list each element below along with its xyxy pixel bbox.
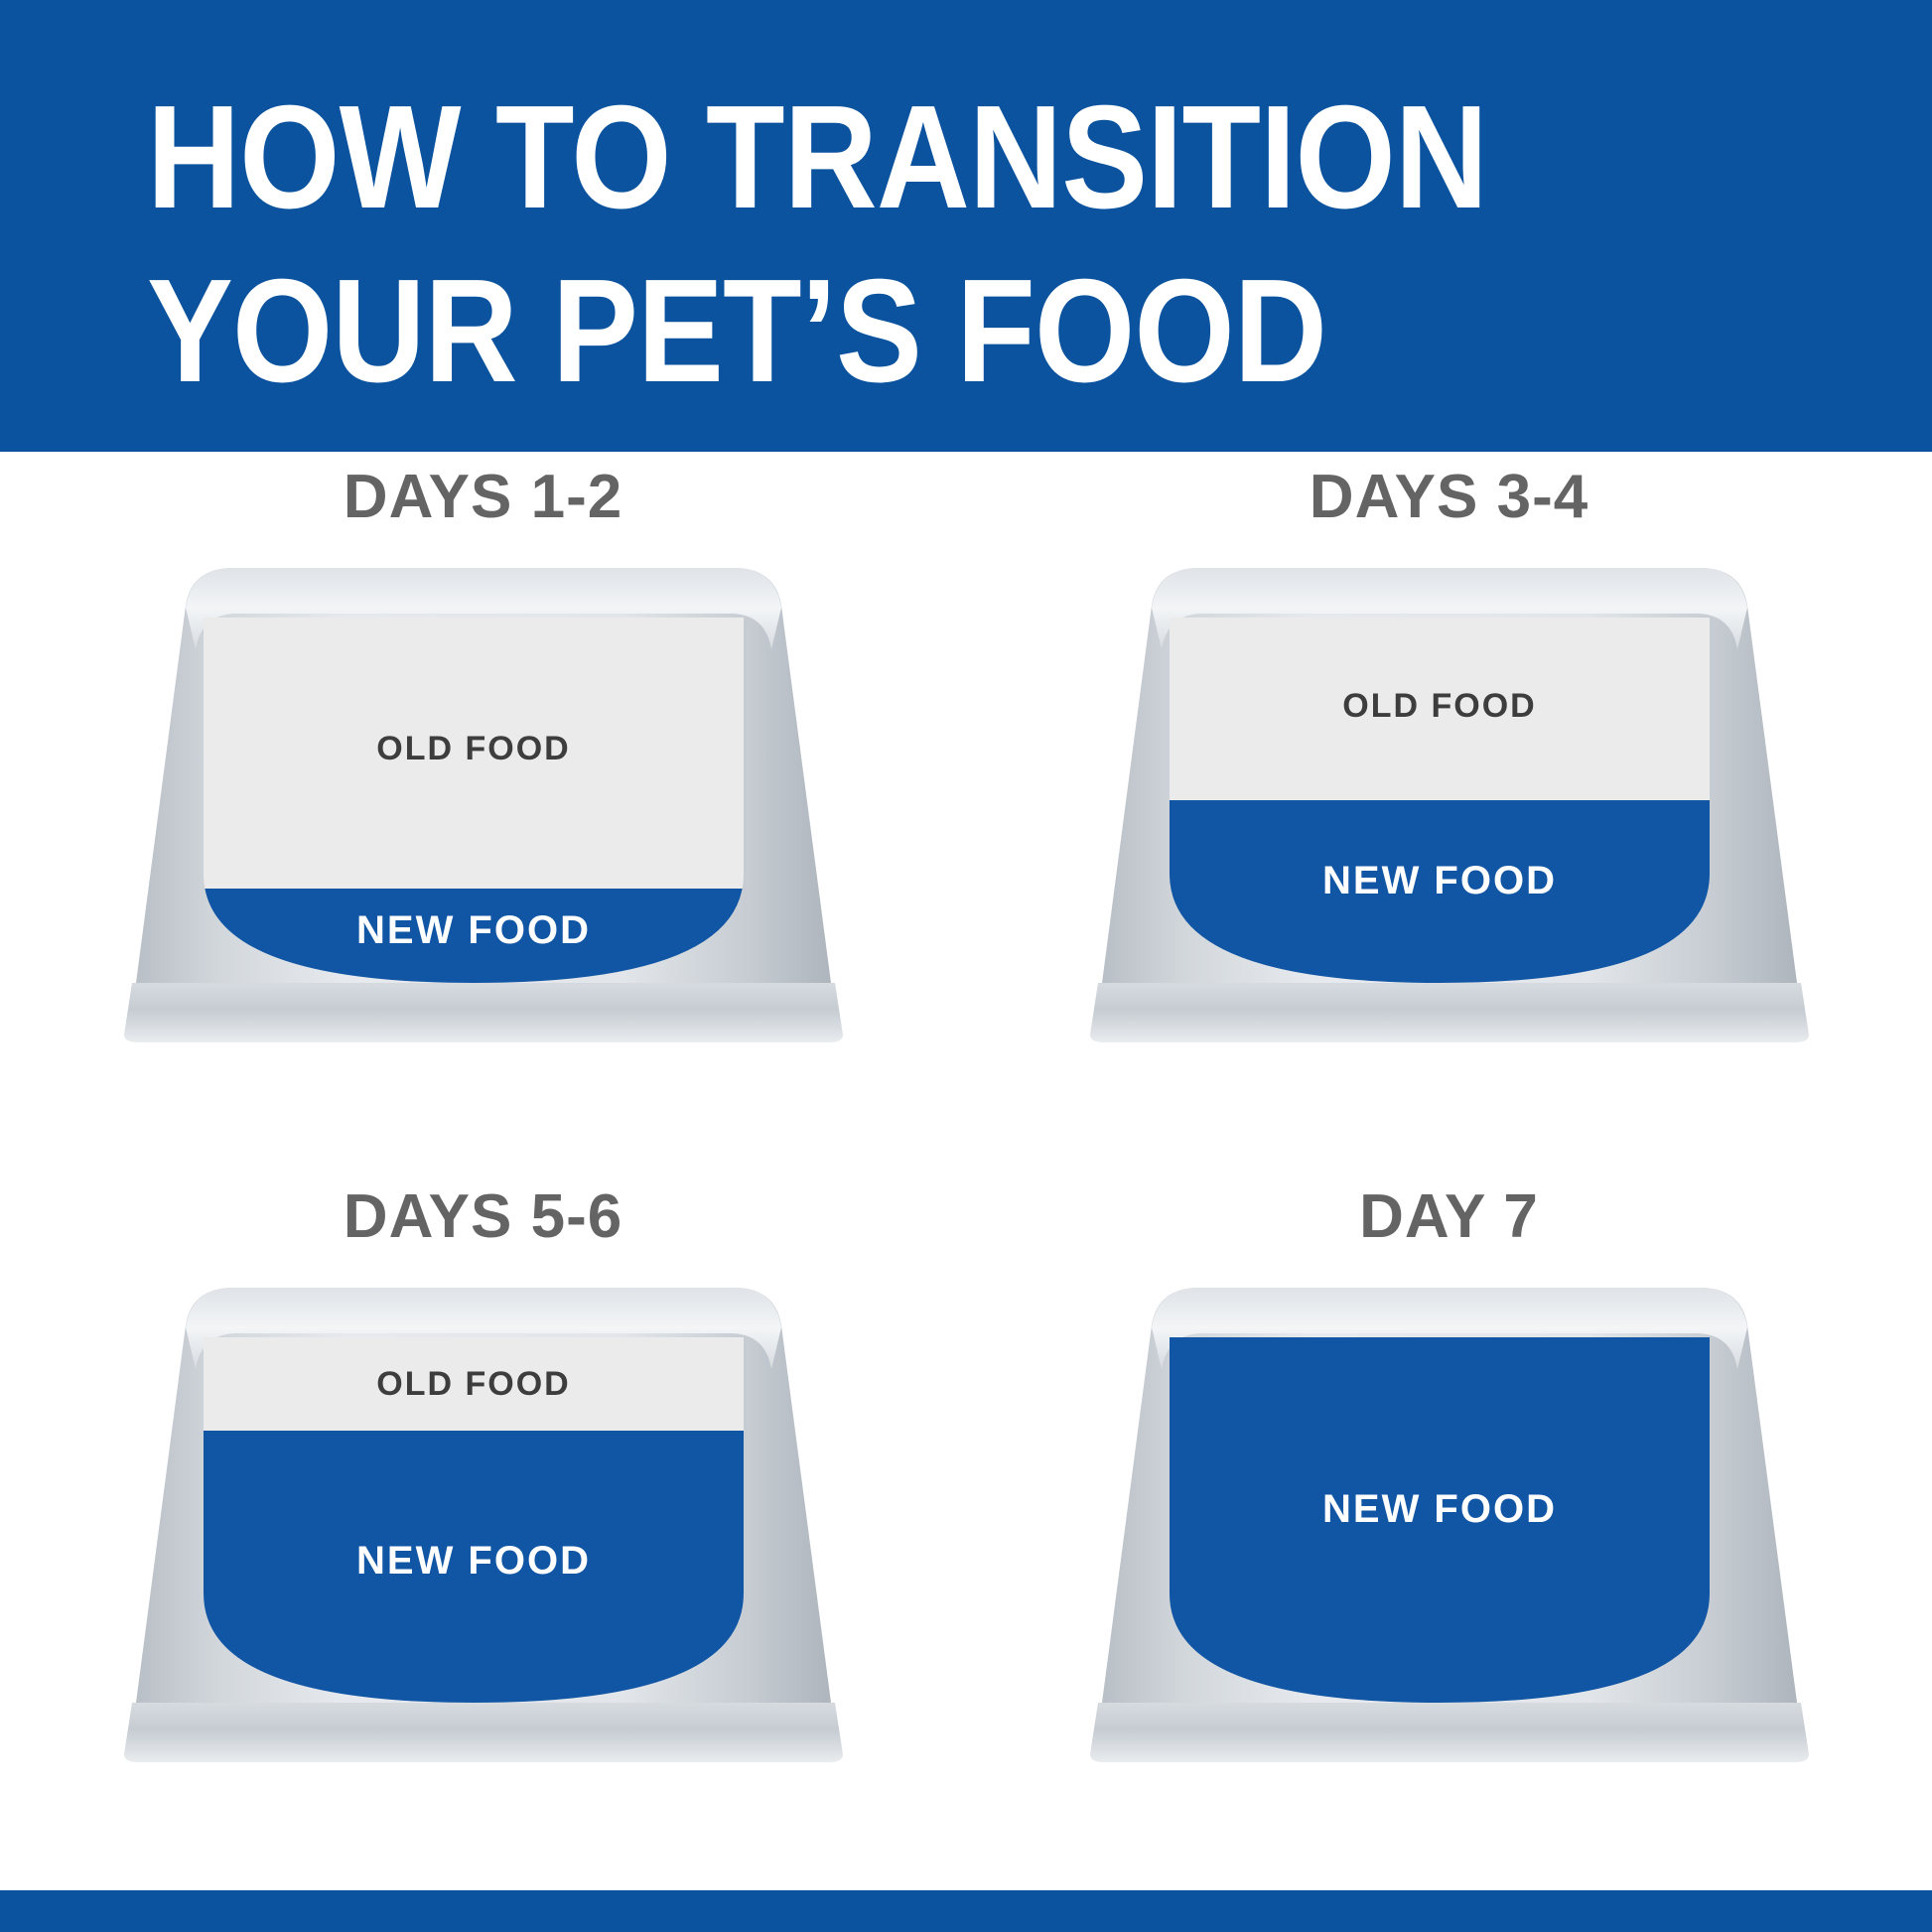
bowl-base [124,1703,843,1762]
stage-label-days-3-4: DAYS 3-4 [966,462,1932,532]
stage-panel-days-3-4: DAYS 3-4 [966,452,1932,1172]
stage-panel-days-5-6: DAYS 5-6 [0,1172,966,1891]
bowl-illustration-day-7: NEW FOOD [966,1266,1932,1871]
bowl-svg-3: OLD FOOD NEW FOOD [76,1266,891,1782]
bowl-svg-2: OLD FOOD NEW FOOD [1042,546,1857,1062]
new-food-label: NEW FOOD [356,1539,591,1583]
page-title-line-1: HOW TO TRANSITION [147,71,1718,245]
footer-bar [0,1890,1932,1932]
stage-panel-day-7: DAY 7 [966,1172,1932,1891]
transition-stages-grid: DAYS 1-2 [0,452,1932,1892]
stage-label-days-1-2: DAYS 1-2 [0,462,966,532]
stage-label-days-5-6: DAYS 5-6 [0,1181,966,1252]
bowl-illustration-days-5-6: OLD FOOD NEW FOOD [0,1266,966,1871]
bowl-svg-4: NEW FOOD [1042,1266,1857,1782]
new-food-label: NEW FOOD [1322,1487,1557,1531]
bowl-base [1090,983,1809,1042]
old-food-label: OLD FOOD [1342,687,1536,725]
bowl-illustration-days-1-2: OLD FOOD NEW FOOD [0,546,966,1152]
new-food-label: NEW FOOD [356,908,591,952]
old-food-label: OLD FOOD [376,730,570,767]
stage-panel-days-1-2: DAYS 1-2 [0,452,966,1172]
bowl-base [124,983,843,1042]
page-title-line-2: YOUR PET’S FOOD [147,245,1718,419]
bowl-svg-1: OLD FOOD NEW FOOD [76,546,891,1062]
bowl-base [1090,1703,1809,1762]
header-banner: HOW TO TRANSITION YOUR PET’S FOOD [0,0,1932,452]
old-food-label: OLD FOOD [376,1365,570,1403]
stage-label-day-7: DAY 7 [966,1181,1932,1252]
bowl-contents [1170,606,1710,1009]
bowl-illustration-days-3-4: OLD FOOD NEW FOOD [966,546,1932,1152]
new-food-label: NEW FOOD [1322,859,1557,902]
